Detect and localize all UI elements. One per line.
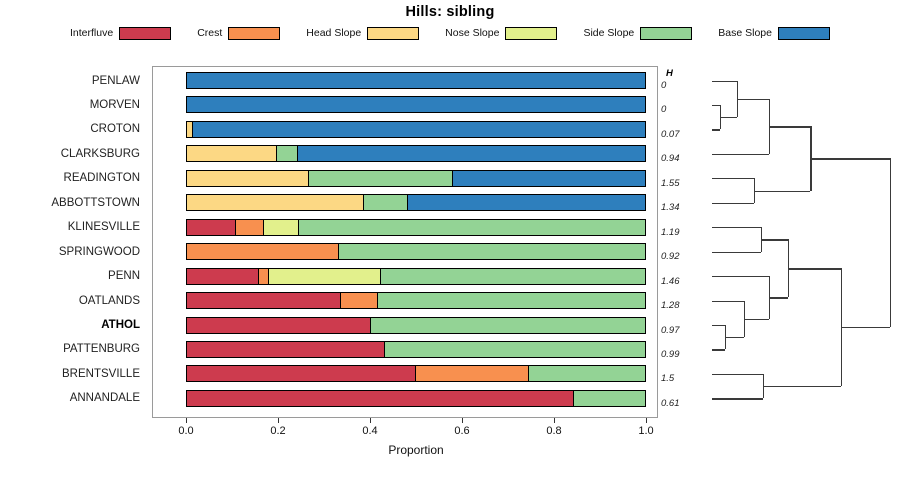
dendrogram-branch — [712, 252, 761, 253]
dendrogram-branch — [712, 349, 725, 350]
bar-segment-side-slope[interactable] — [378, 293, 645, 308]
legend-item-nose-slope: Nose Slope — [445, 27, 557, 40]
h-value: 0 — [661, 79, 666, 92]
bar-segment-side-slope[interactable] — [371, 318, 645, 333]
dendrogram-branch — [712, 325, 725, 326]
dendrogram-branch — [712, 276, 769, 277]
h-value: 1.55 — [661, 177, 680, 190]
bar-segment-side-slope[interactable] — [364, 195, 408, 210]
bar-segment-base-slope[interactable] — [187, 73, 645, 88]
bar-row[interactable] — [186, 194, 646, 211]
bar-segment-interfluve[interactable] — [187, 342, 385, 357]
h-value: 1.34 — [661, 201, 680, 214]
bar-row[interactable] — [186, 390, 646, 407]
dendrogram-branch — [712, 129, 720, 130]
dendrogram-connector — [890, 158, 891, 327]
legend-swatch — [367, 27, 419, 40]
bar-segment-side-slope[interactable] — [309, 171, 454, 186]
x-axis-title: Proportion — [186, 443, 646, 457]
dendrogram-branch — [720, 117, 737, 118]
x-tick-label: 1.0 — [638, 425, 653, 437]
legend-label: Side Slope — [583, 27, 634, 39]
dendrogram-branch — [712, 178, 754, 179]
bar-segment-base-slope[interactable] — [408, 195, 645, 210]
legend: InterfluveCrestHead SlopeNose SlopeSide … — [70, 24, 830, 42]
bar-segment-side-slope[interactable] — [299, 220, 645, 235]
category-label-oatlands: OATLANDS — [79, 293, 140, 309]
legend-label: Crest — [197, 27, 222, 39]
bar-row[interactable] — [186, 341, 646, 358]
h-column-header: H — [666, 68, 673, 79]
dendrogram-branch — [712, 374, 763, 375]
bar-row[interactable] — [186, 243, 646, 260]
h-value: 1.19 — [661, 226, 680, 239]
bar-segment-head-slope[interactable] — [187, 195, 364, 210]
bar-segment-head-slope[interactable] — [187, 171, 309, 186]
x-tick — [646, 418, 647, 423]
bar-segment-interfluve[interactable] — [187, 269, 259, 284]
bar-row[interactable] — [186, 145, 646, 162]
bar-segment-side-slope[interactable] — [574, 391, 645, 406]
bar-segment-base-slope[interactable] — [298, 146, 645, 161]
stacked-bars — [186, 66, 646, 418]
dendrogram-branch — [841, 327, 890, 328]
dendrogram-branch — [737, 99, 769, 100]
dendrogram-branch — [763, 386, 841, 387]
bar-segment-side-slope[interactable] — [277, 146, 299, 161]
legend-item-side-slope: Side Slope — [583, 27, 692, 40]
h-value: 0.94 — [661, 152, 680, 165]
category-label-annandale: ANNANDALE — [70, 390, 140, 406]
bar-segment-nose-slope[interactable] — [269, 269, 381, 284]
x-tick-label: 0.6 — [454, 425, 469, 437]
h-value: 0.92 — [661, 250, 680, 263]
bar-segment-crest[interactable] — [341, 293, 378, 308]
bar-segment-base-slope[interactable] — [193, 122, 645, 137]
legend-item-head-slope: Head Slope — [306, 27, 419, 40]
category-label-penlaw: PENLAW — [92, 73, 140, 89]
bar-row[interactable] — [186, 121, 646, 138]
dendrogram — [700, 66, 900, 418]
legend-swatch — [640, 27, 692, 40]
bar-segment-base-slope[interactable] — [453, 171, 645, 186]
x-tick-label: 0.4 — [362, 425, 377, 437]
dendrogram-branch — [754, 191, 811, 192]
x-tick — [186, 418, 187, 423]
legend-label: Head Slope — [306, 27, 361, 39]
x-tick — [554, 418, 555, 423]
category-label-brentsville: BRENTSVILLE — [62, 366, 140, 382]
dendrogram-branch — [761, 239, 788, 240]
category-label-morven: MORVEN — [90, 97, 140, 113]
bar-segment-crest[interactable] — [236, 220, 264, 235]
dendrogram-branch — [712, 154, 769, 155]
chart-root: Hills: sibling InterfluveCrestHead Slope… — [0, 0, 900, 480]
legend-item-crest: Crest — [197, 27, 280, 40]
dendrogram-branch — [712, 398, 763, 399]
h-value: 0.07 — [661, 128, 680, 141]
bar-segment-side-slope[interactable] — [381, 269, 645, 284]
legend-item-interfluve: Interfluve — [70, 27, 171, 40]
bar-row[interactable] — [186, 72, 646, 89]
legend-item-base-slope: Base Slope — [718, 27, 830, 40]
x-tick-label: 0.2 — [270, 425, 285, 437]
bar-row[interactable] — [186, 170, 646, 187]
h-value: 0 — [661, 103, 666, 116]
h-value: 0.99 — [661, 348, 680, 361]
bar-segment-side-slope[interactable] — [529, 366, 645, 381]
dendrogram-branch — [712, 81, 737, 82]
dendrogram-branch — [712, 105, 720, 106]
bar-row[interactable] — [186, 292, 646, 309]
h-column: H 000.070.941.551.341.190.921.461.280.97… — [658, 66, 702, 418]
category-label-athol: ATHOL — [101, 317, 140, 333]
legend-label: Base Slope — [718, 27, 772, 39]
dendrogram-branch — [712, 227, 761, 228]
x-tick — [278, 418, 279, 423]
bar-segment-interfluve[interactable] — [187, 293, 341, 308]
category-label-klinesville: KLINESVILLE — [68, 219, 140, 235]
legend-swatch — [778, 27, 830, 40]
x-tick-label: 0.8 — [546, 425, 561, 437]
legend-label: Interfluve — [70, 27, 113, 39]
dendrogram-branch — [810, 158, 890, 159]
bar-row[interactable] — [186, 365, 646, 382]
x-tick — [462, 418, 463, 423]
bar-segment-interfluve[interactable] — [187, 220, 236, 235]
dendrogram-branch — [769, 126, 811, 127]
bar-segment-crest[interactable] — [416, 366, 529, 381]
dendrogram-branch — [744, 319, 769, 320]
bar-segment-side-slope[interactable] — [385, 342, 645, 357]
bar-segment-crest[interactable] — [259, 269, 269, 284]
category-label-abbottstown: ABBOTTSTOWN — [51, 195, 140, 211]
dendrogram-branch — [788, 268, 841, 269]
category-axis-labels: PENLAWMORVENCROTONCLARKSBURGREADINGTONAB… — [0, 66, 148, 418]
dendrogram-branch — [725, 337, 744, 338]
bar-row[interactable] — [186, 317, 646, 334]
h-value: 1.28 — [661, 299, 680, 312]
bar-segment-interfluve[interactable] — [187, 391, 574, 406]
h-value: 1.46 — [661, 275, 680, 288]
category-label-pattenburg: PATTENBURG — [63, 341, 140, 357]
bar-row[interactable] — [186, 268, 646, 285]
category-label-readington: READINGTON — [64, 170, 140, 186]
bar-segment-side-slope[interactable] — [339, 244, 645, 259]
legend-swatch — [228, 27, 280, 40]
bar-segment-interfluve[interactable] — [187, 366, 416, 381]
h-value: 1.5 — [661, 372, 674, 385]
category-label-springwood: SPRINGWOOD — [59, 244, 140, 260]
chart-title: Hills: sibling — [0, 4, 900, 20]
dendrogram-branch — [769, 297, 788, 298]
bar-segment-head-slope[interactable] — [187, 146, 277, 161]
x-tick-label: 0.0 — [178, 425, 193, 437]
bar-row[interactable] — [186, 219, 646, 236]
legend-label: Nose Slope — [445, 27, 499, 39]
bar-segment-crest[interactable] — [187, 244, 339, 259]
bar-segment-nose-slope[interactable] — [264, 220, 299, 235]
h-value: 0.61 — [661, 397, 680, 410]
legend-swatch — [119, 27, 171, 40]
category-label-clarksburg: CLARKSBURG — [61, 146, 140, 162]
h-value: 0.97 — [661, 324, 680, 337]
dendrogram-branch — [712, 203, 754, 204]
dendrogram-branch — [712, 301, 744, 302]
bar-row[interactable] — [186, 96, 646, 113]
category-label-croton: CROTON — [90, 121, 140, 137]
x-tick — [370, 418, 371, 423]
category-label-penn: PENN — [108, 268, 140, 284]
legend-swatch — [505, 27, 557, 40]
bar-segment-base-slope[interactable] — [187, 97, 645, 112]
bar-segment-interfluve[interactable] — [187, 318, 371, 333]
